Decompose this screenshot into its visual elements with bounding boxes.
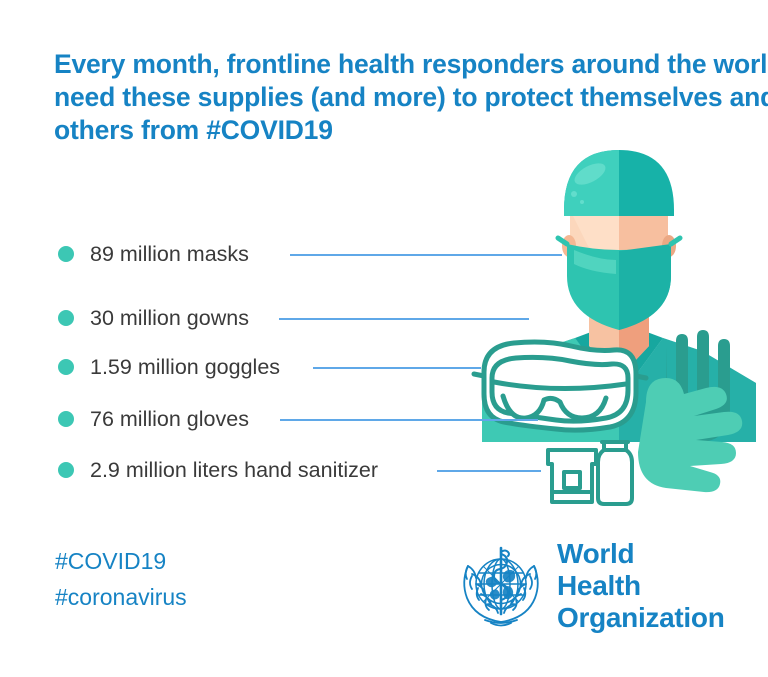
who-logo: World Health Organization bbox=[455, 538, 715, 634]
connector-line-sanitizer bbox=[437, 470, 541, 472]
who-wordmark-line-2: Organization bbox=[557, 602, 725, 634]
connector-line-gowns bbox=[279, 318, 529, 320]
bullet-icon bbox=[58, 462, 74, 478]
list-item: 89 million masks bbox=[58, 241, 249, 267]
supply-label-goggles: 1.59 million goggles bbox=[90, 354, 280, 380]
who-wordmark: World Health Organization bbox=[557, 538, 725, 634]
infographic-canvas: Every month, frontline health responders… bbox=[0, 0, 768, 677]
bullet-icon bbox=[58, 359, 74, 375]
supply-label-gloves: 76 million gloves bbox=[90, 406, 249, 432]
list-item: 76 million gloves bbox=[58, 406, 249, 432]
supply-label-sanitizer: 2.9 million liters hand sanitizer bbox=[90, 457, 378, 483]
connector-line-masks bbox=[290, 254, 562, 256]
list-item: 1.59 million goggles bbox=[58, 354, 280, 380]
connector-line-goggles bbox=[313, 367, 481, 369]
hashtag-block: #COVID19 #coronavirus bbox=[55, 543, 187, 615]
bullet-icon bbox=[58, 246, 74, 262]
connector-line-gloves bbox=[280, 419, 538, 421]
bullet-icon bbox=[58, 411, 74, 427]
hashtag-covid19: #COVID19 bbox=[55, 543, 187, 579]
who-wordmark-line-1: World Health bbox=[557, 538, 725, 602]
list-item: 2.9 million liters hand sanitizer bbox=[58, 457, 378, 483]
supply-label-masks: 89 million masks bbox=[90, 241, 249, 267]
who-emblem-icon bbox=[455, 540, 547, 632]
bullet-icon bbox=[58, 310, 74, 326]
hashtag-coronavirus: #coronavirus bbox=[55, 579, 187, 615]
list-item: 30 million gowns bbox=[58, 305, 249, 331]
supply-label-gowns: 30 million gowns bbox=[90, 305, 249, 331]
